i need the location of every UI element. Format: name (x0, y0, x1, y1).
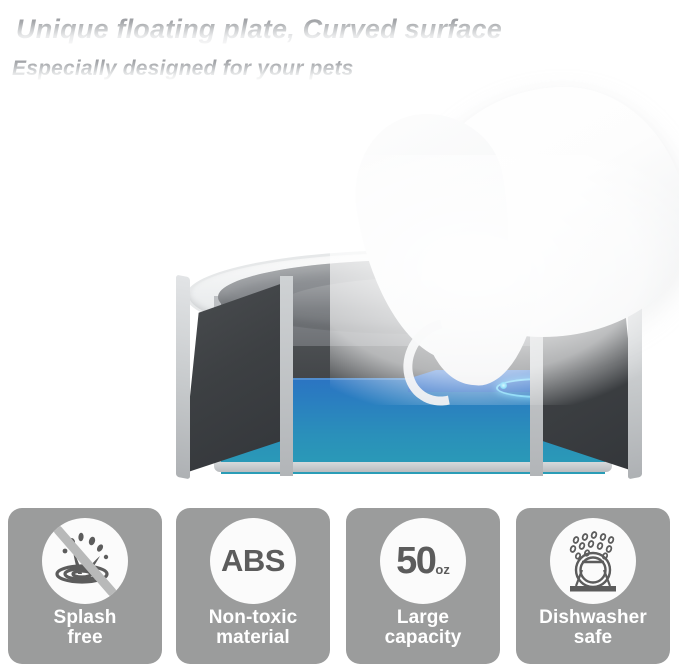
product-illustration (0, 95, 679, 490)
abs-material-icon: ABS (210, 518, 296, 604)
product-marketing-image: Unique floating plate, Curved surface Es… (0, 0, 679, 672)
badge-label-line2: safe (574, 627, 612, 648)
badge-label-line1: Dishwasher (539, 607, 647, 628)
badge-label-line2: free (67, 627, 102, 648)
badge-label-line1: Non-toxic (209, 607, 298, 628)
badge-label-line2: material (216, 627, 290, 648)
abs-text: ABS (221, 543, 285, 579)
badge-large-capacity[interactable]: 50 oz Large capacity (346, 508, 500, 664)
capacity-unit: oz (435, 562, 449, 578)
capacity-icon: 50 oz (380, 518, 466, 604)
page-subtitle: Especially designed for your pets (12, 57, 354, 81)
dog-soft-shading (330, 155, 679, 405)
headline-block: Unique floating plate, Curved surface Es… (0, 0, 679, 100)
badge-label: Splash free (54, 608, 117, 648)
page-title: Unique floating plate, Curved surface (16, 14, 502, 45)
splash-free-icon (42, 518, 128, 604)
badge-label-line2: capacity (385, 627, 462, 648)
badge-label: Dishwasher safe (539, 608, 647, 648)
badge-label-line1: Splash (54, 607, 117, 628)
dog-head-drinking (0, 95, 679, 395)
badge-label-line1: Large (397, 607, 449, 628)
badge-label: Non-toxic material (209, 608, 298, 648)
capacity-number: 50 (396, 544, 435, 578)
dishwasher-safe-icon (550, 518, 636, 604)
badge-label: Large capacity (385, 608, 462, 648)
badge-non-toxic[interactable]: ABS Non-toxic material (176, 508, 330, 664)
feature-badges: Splash free ABS Non-toxic material 50 oz… (0, 500, 679, 672)
badge-dishwasher-safe[interactable]: Dishwasher safe (516, 508, 670, 664)
badge-splash-free[interactable]: Splash free (8, 508, 162, 664)
